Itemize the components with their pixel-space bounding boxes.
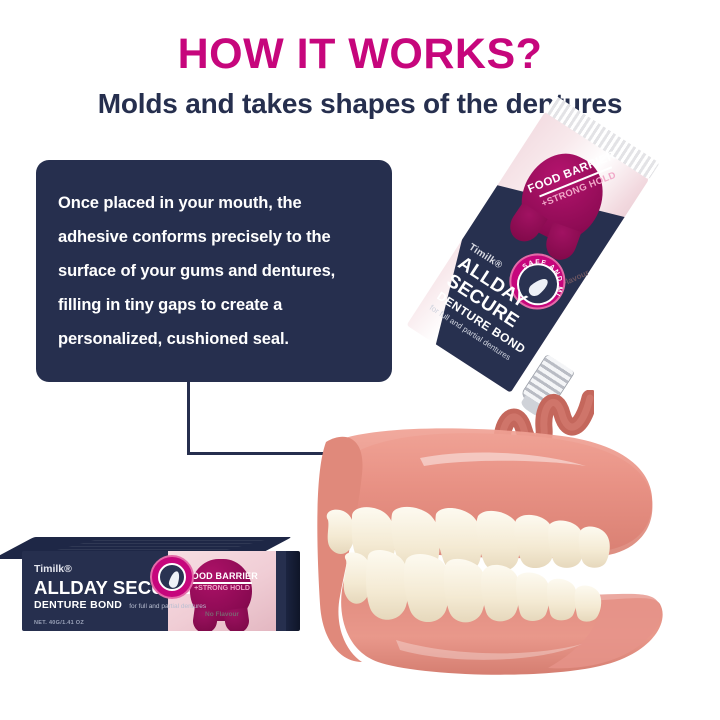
carton-seal-inner-disc [158, 563, 186, 591]
leader-line-vertical [187, 382, 190, 455]
adhesive-tube: FOOD BARRIER +STRONG HOLD No Flavour SAF… [392, 95, 659, 414]
callout-body-text: Once placed in your mouth, the adhesive … [58, 186, 367, 356]
page-title: HOW IT WORKS? [0, 30, 720, 79]
carton-net-weight: NET. 40G/1.41 OZ [34, 620, 84, 626]
carton-safe-and-mild-seal [150, 555, 194, 599]
carton-product-desc: for full and partial dentures [129, 603, 206, 611]
product-carton: FOOD BARRIER +STRONG HOLD No Flavour Tim… [22, 537, 300, 642]
callout-card: Once placed in your mouth, the adhesive … [36, 160, 392, 382]
adhesive-tube-group: FOOD BARRIER +STRONG HOLD No Flavour SAF… [404, 95, 720, 425]
carton-product-sub: DENTURE BOND [34, 599, 122, 611]
infographic-page: HOW IT WORKS? Molds and takes shapes of … [0, 0, 720, 720]
denture-illustration [300, 404, 720, 704]
carton-droplet-icon [168, 570, 182, 589]
carton-flavour-label: No Flavour [174, 611, 270, 618]
carton-side-panel [286, 551, 300, 631]
